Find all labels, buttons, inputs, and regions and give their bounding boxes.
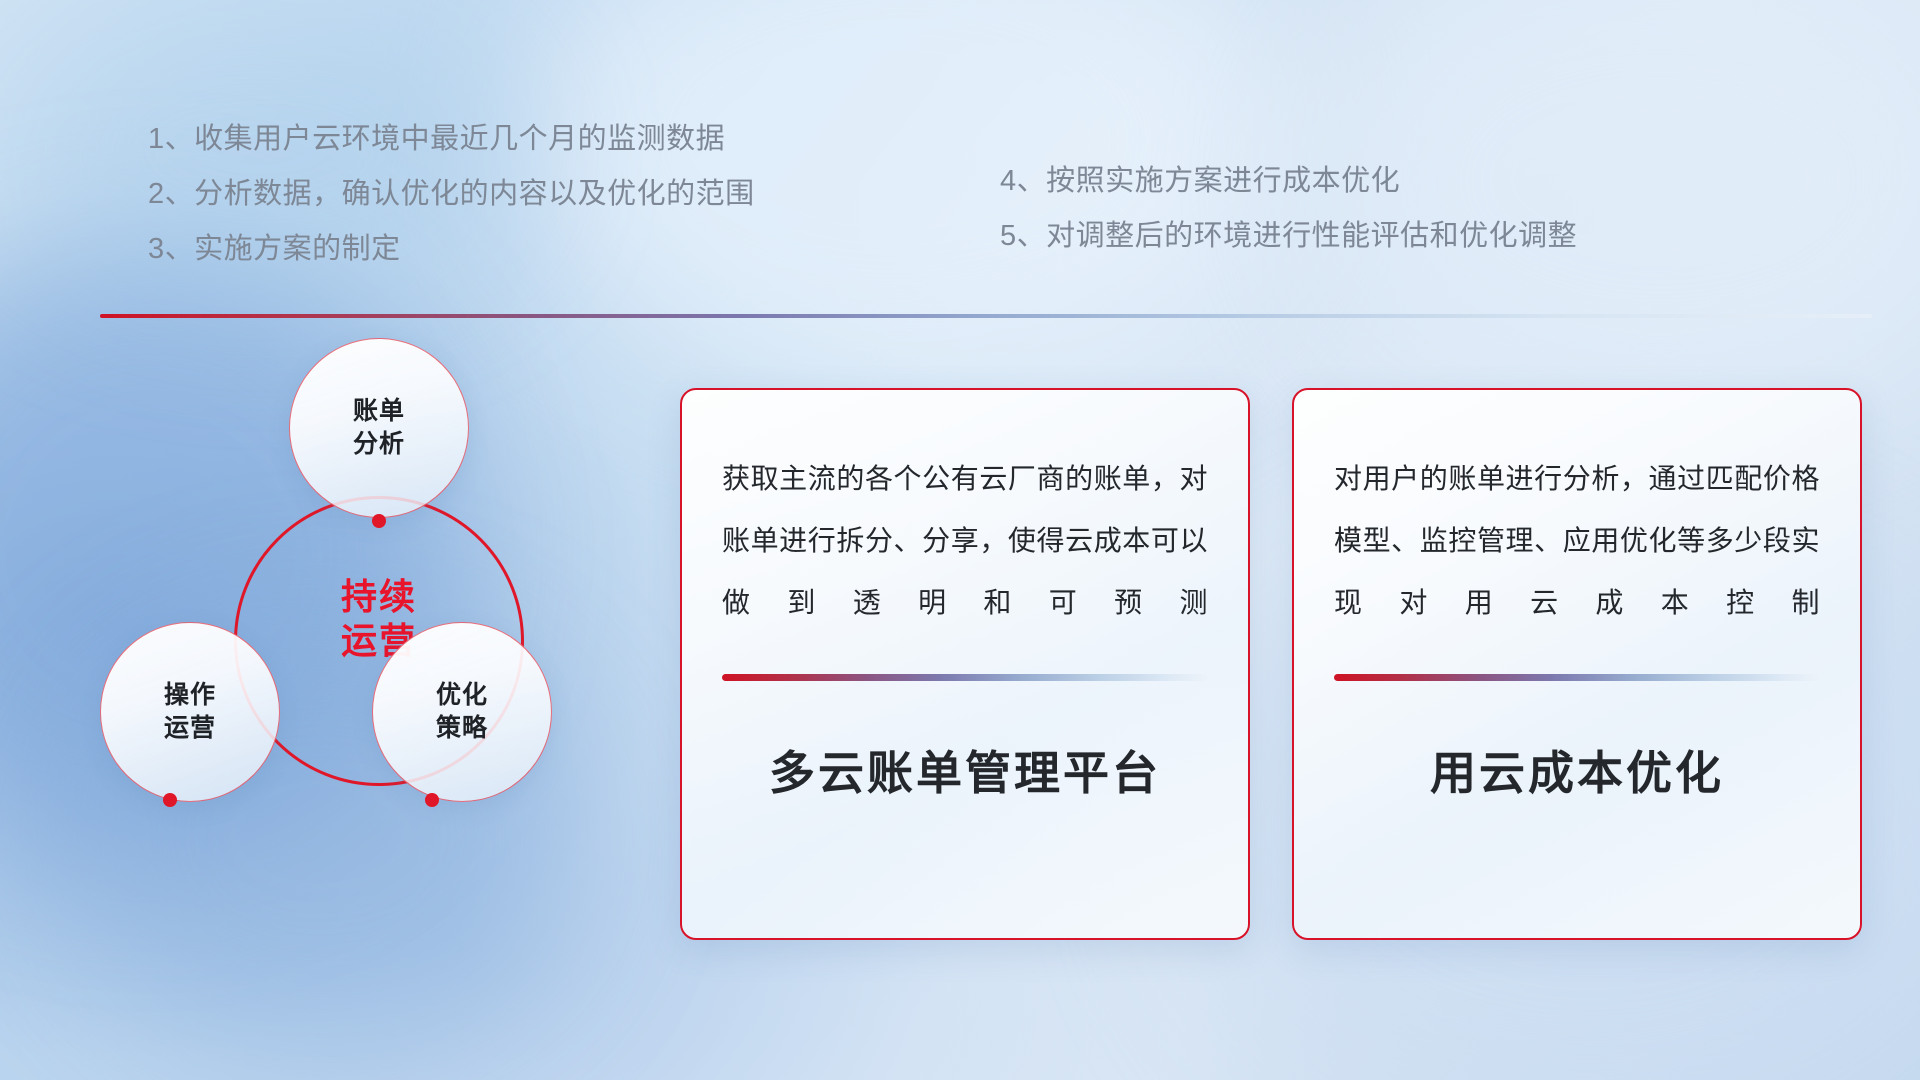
step-item-3: 3、实施方案的制定 xyxy=(148,222,755,277)
card-2-body: 对用户的账单进行分析，通过匹配价格模型、监控管理、应用优化等多少段实现对用云成本… xyxy=(1334,448,1820,634)
steps-right-column: 4、按照实施方案进行成本优化 5、对调整后的环境进行性能评估和优化调整 xyxy=(1000,154,1577,264)
diagram-bubble-billing-analysis[interactable]: 账单 分析 xyxy=(289,338,469,518)
card-1-title: 多云账单管理平台 xyxy=(722,737,1208,803)
bubble-top-line2: 分析 xyxy=(353,430,405,460)
step-item-4: 4、按照实施方案进行成本优化 xyxy=(1000,154,1577,209)
card-2-title: 用云成本优化 xyxy=(1334,737,1820,803)
step-item-2: 2、分析数据，确认优化的内容以及优化的范围 xyxy=(148,167,755,222)
feature-card-cost-optimization[interactable]: 对用户的账单进行分析，通过匹配价格模型、监控管理、应用优化等多少段实现对用云成本… xyxy=(1292,388,1862,940)
diagram-node-dot-right xyxy=(425,793,439,807)
steps-left-column: 1、收集用户云环境中最近几个月的监测数据 2、分析数据，确认优化的内容以及优化的… xyxy=(148,112,755,277)
bubble-top-line1: 账单 xyxy=(353,397,405,427)
step-item-1: 1、收集用户云环境中最近几个月的监测数据 xyxy=(148,112,755,167)
cycle-diagram: 持续 运营 账单 分析 操作 运营 优化 策略 xyxy=(100,350,660,950)
card-1-body: 获取主流的各个公有云厂商的账单，对账单进行拆分、分享，使得云成本可以做到透明和可… xyxy=(722,448,1208,634)
bubble-left-line1: 操作 xyxy=(164,681,216,711)
slide-canvas: 1、收集用户云环境中最近几个月的监测数据 2、分析数据，确认优化的内容以及优化的… xyxy=(0,0,1920,1080)
card-2-divider xyxy=(1334,674,1820,681)
diagram-bubble-optimization-strategy[interactable]: 优化 策略 xyxy=(372,622,552,802)
steps-list: 1、收集用户云环境中最近几个月的监测数据 2、分析数据，确认优化的内容以及优化的… xyxy=(0,112,1920,302)
bubble-right-line2: 策略 xyxy=(436,714,488,744)
diagram-node-dot-top xyxy=(372,514,386,528)
center-label-line1: 持续 xyxy=(244,575,514,619)
bubble-left-line2: 运营 xyxy=(164,714,216,744)
bubble-right-line1: 优化 xyxy=(436,681,488,711)
diagram-bubble-operations[interactable]: 操作 运营 xyxy=(100,622,280,802)
diagram-node-dot-left xyxy=(163,793,177,807)
card-1-divider xyxy=(722,674,1208,681)
step-item-5: 5、对调整后的环境进行性能评估和优化调整 xyxy=(1000,209,1577,264)
section-divider-rule xyxy=(100,314,1872,318)
feature-card-multicloud-billing[interactable]: 获取主流的各个公有云厂商的账单，对账单进行拆分、分享，使得云成本可以做到透明和可… xyxy=(680,388,1250,940)
